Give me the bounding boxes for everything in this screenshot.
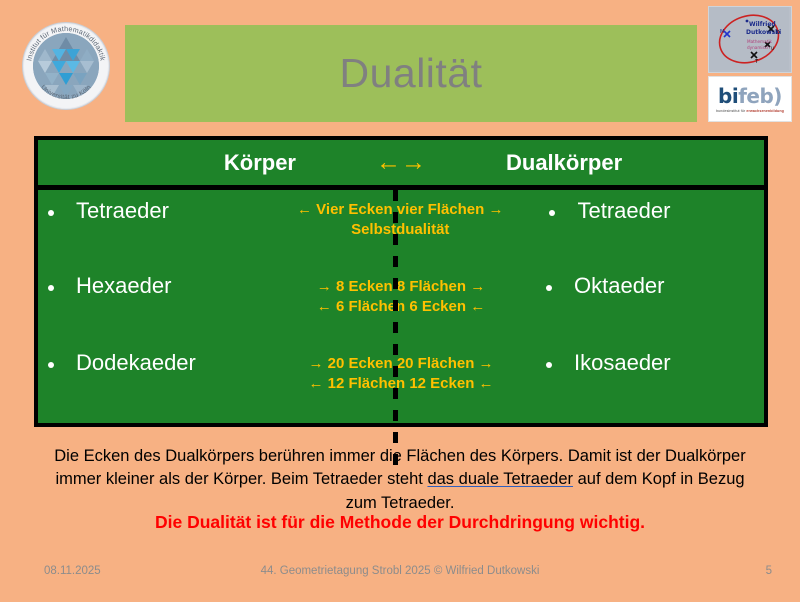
arrow-left-icon: ← [376,150,401,175]
bullet-icon [48,362,54,368]
row-1-left-cell: Tetraeder [38,190,297,224]
slide-canvas: Institut für Mathematikdidaktik Universi… [0,0,800,602]
bifeb-wordmark: bifeb) [718,86,782,106]
row-3-left-cell: Dodekaeder [38,344,308,376]
table-row: Hexaeder → 8 Ecken 8 Flächen → ← 6 Fläch… [38,267,764,344]
bullet-icon [549,210,555,216]
row-2-left-label: Hexaeder [76,273,171,299]
svg-text:dynamisch: dynamisch [747,45,770,50]
row-2-middle-cell: → 8 Ecken 8 Flächen → ← 6 Flächen 6 Ecke… [308,267,494,318]
page-title: Dualität [339,53,482,94]
table-header-left: Körper ← [38,150,401,176]
table-row: Tetraeder ← Vier Ecken vier Flächen → Se… [38,190,764,267]
footer-page-number: 5 [766,565,772,577]
duality-table: Körper ← → Dualkörper Tetraeder ← Vier E… [34,136,768,427]
row-1-middle-cell: ← Vier Ecken vier Flächen → Selbstdualit… [297,190,503,241]
row-2-middle-line-2: ← 6 Flächen 6 Ecken ← [308,297,494,317]
row-3-left-label: Dodekaeder [76,350,196,376]
emphasis-text: Die Dualität ist für die Methode der Dur… [40,512,760,533]
row-3-middle-line-1: → 20 Ecken 20 Flächen → [308,354,494,374]
svg-text:Mathematik: Mathematik [747,39,773,44]
row-1-left-label: Tetraeder [76,198,169,224]
bifeb-tagline-prefix: bundesinstitut für [716,109,746,113]
duale-tetraeder-link[interactable]: das duale Tetraeder [427,470,573,488]
university-logo: Institut für Mathematikdidaktik Universi… [22,22,110,110]
table-row: Dodekaeder → 20 Ecken 20 Flächen → ← 12 … [38,344,764,421]
svg-text:Wilfried: Wilfried [749,21,776,28]
bifeb-tagline-accent: erwachsenenbildung [746,109,784,113]
table-header-row: Körper ← → Dualkörper [38,140,764,190]
row-1-middle-line-2: Selbstdualität [297,220,503,240]
row-3-right-cell: Ikosaeder [494,344,764,376]
title-banner: Dualität [125,25,697,122]
bullet-icon [48,210,54,216]
svg-text:M: M [720,29,724,35]
row-3-middle-line-2: ← 12 Flächen 12 Ecken ← [308,374,494,394]
header-label-dualkoerper: Dualkörper [506,150,622,176]
bullet-icon [546,285,552,291]
table-header-right: → Dualkörper [401,150,764,176]
arrow-right-icon: → [401,150,426,175]
explanation-paragraph: Die Ecken des Dualkörpers berühren immer… [40,445,760,515]
header-label-koerper: Körper [224,150,296,176]
svg-text:U: U [771,46,774,52]
bifeb-bi-text: bi [718,84,738,108]
bullet-icon [48,285,54,291]
row-2-left-cell: Hexaeder [38,267,308,299]
row-3-right-label: Ikosaeder [574,350,671,376]
svg-text:Dutkowski: Dutkowski [746,29,781,36]
bifeb-feb-text: feb) [738,84,782,108]
row-1-right-label: Tetraeder [577,198,670,224]
dutkowski-logo: M D U T Wilfried Dutkowski Mathematik dy… [708,6,792,73]
row-2-right-label: Oktaeder [574,273,665,299]
bullet-icon [546,362,552,368]
footer-credit: 44. Geometrietagung Strobl 2025 © Wilfri… [0,565,800,577]
bifeb-tagline: bundesinstitut für erwachsenenbildung [716,109,784,113]
row-1-middle-line-1: ← Vier Ecken vier Flächen → [297,200,503,220]
logo-triangle-disc [33,33,99,99]
bifeb-logo: bifeb) bundesinstitut für erwachsenenbil… [708,76,792,122]
row-3-middle-cell: → 20 Ecken 20 Flächen → ← 12 Flächen 12 … [308,344,494,395]
row-1-right-cell: Tetraeder [503,190,764,224]
vertical-dashed-divider [393,190,398,473]
row-2-right-cell: Oktaeder [494,267,764,299]
row-2-middle-line-1: → 8 Ecken 8 Flächen → [308,277,494,297]
table-body: Tetraeder ← Vier Ecken vier Flächen → Se… [38,190,764,423]
